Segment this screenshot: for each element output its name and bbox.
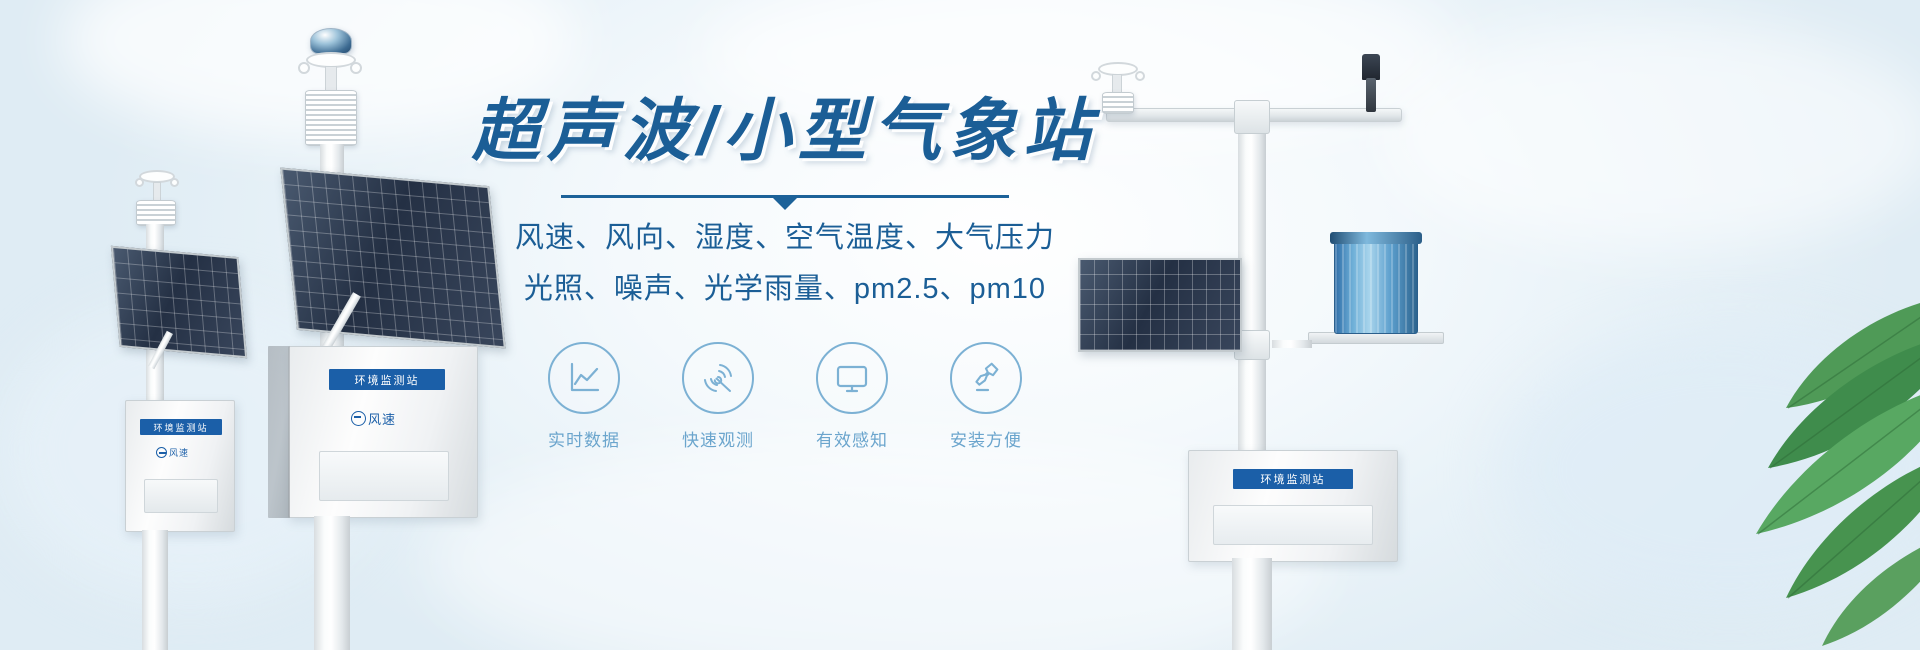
brand-name: 风速 [368, 409, 396, 428]
banner-content: 超声波/小型气象站 风速、风向、湿度、空气温度、大气压力 光照、噪声、光学雨量、… [420, 96, 1150, 451]
product-banner: 环境监测站 风速 环境监测站 [0, 0, 1920, 650]
triangle-down-icon [772, 197, 798, 210]
shelf-bracket [1272, 340, 1312, 348]
feature-item-effective-sensing[interactable]: 有效感知 [806, 342, 898, 451]
subtitle-line-2: 光照、噪声、光学雨量、pm2.5、pm10 [420, 267, 1150, 312]
feature-label: 安装方便 [940, 426, 1032, 451]
ultrasonic-anemometer-icon [298, 52, 364, 94]
feature-list: 实时数据 快速观测 [420, 342, 1150, 451]
title-divider [561, 195, 1009, 198]
optical-rain-gauge [1334, 238, 1418, 334]
leaf-decoration-right [1690, 268, 1920, 650]
feature-item-easy-installation[interactable]: 安装方便 [940, 342, 1032, 451]
feature-item-fast-observation[interactable]: 快速观测 [672, 342, 764, 451]
mast-collar [1234, 100, 1270, 134]
feature-item-realtime-data[interactable]: 实时数据 [538, 342, 630, 451]
subtitle-line-1: 风速、风向、湿度、空气温度、大气压力 [420, 216, 1150, 261]
sky-dome-sensor [310, 28, 352, 54]
base-pole [314, 516, 350, 650]
ultrasonic-anemometer-icon [133, 170, 181, 204]
equipment-cabinet: 环境监测站 [1188, 450, 1398, 562]
cabinet-banner-label: 环境监测站 [1233, 469, 1353, 489]
brand-mark-icon [351, 411, 366, 426]
radiation-shield [305, 90, 357, 146]
cabinet-side-shadow [268, 346, 290, 518]
feature-label: 实时数据 [538, 426, 630, 451]
line-chart-icon [548, 342, 620, 414]
solar-panel [111, 246, 247, 358]
page-title: 超声波/小型气象站 [420, 96, 1150, 167]
wrench-icon [950, 342, 1022, 414]
base-pole [1232, 558, 1272, 650]
optical-sensor [1360, 54, 1382, 110]
feature-label: 有效感知 [806, 426, 898, 451]
leaf-decoration-left [0, 400, 220, 650]
radar-signal-icon [682, 342, 754, 414]
rain-gauge-rim [1330, 232, 1422, 244]
cabinet-door-panel [1213, 505, 1373, 545]
radiation-shield [136, 200, 176, 226]
cabinet-door-panel [319, 451, 449, 501]
brand-logo: 风速 [351, 409, 396, 428]
monitor-screen-icon [816, 342, 888, 414]
feature-label: 快速观测 [672, 426, 764, 451]
